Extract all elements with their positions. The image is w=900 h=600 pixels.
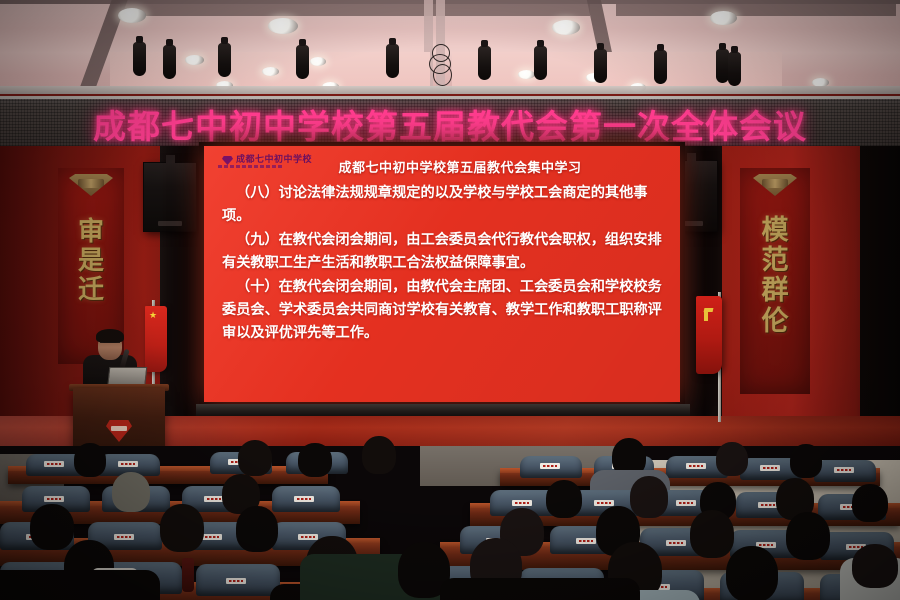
seat-number-plate [686, 463, 706, 469]
seat-number-plate [512, 500, 532, 506]
audience-area [0, 446, 900, 600]
seat-number-plate [594, 500, 614, 506]
stage-spotlight [594, 49, 607, 83]
panel-ornament-icon [753, 174, 797, 196]
ceiling-downlight [185, 55, 204, 65]
calligraphy-char: 迁 [58, 276, 124, 305]
podium-school-emblem-icon [106, 420, 132, 442]
audience-head [726, 546, 778, 600]
audience-head [790, 444, 822, 478]
seat-number-plate [202, 534, 222, 540]
wall-speaker-left [143, 162, 197, 232]
seat-number-plate [676, 500, 696, 506]
stage-spotlight [478, 46, 491, 80]
auditorium-photo: 成都七中初中学校第五届教代会第一次全体会议 审 是 迁 模 范 群 伦 [0, 0, 900, 600]
water-bottle [182, 558, 194, 592]
calligraphy-char: 范 [740, 246, 810, 276]
seat-number-plate [576, 538, 596, 544]
glasses-icon [100, 342, 120, 348]
seat-number-plate [666, 540, 686, 546]
calligraphy-char: 是 [58, 247, 124, 276]
foreground-shoulder [0, 570, 160, 600]
stage-spotlight [728, 52, 741, 86]
cpc-party-flag [696, 296, 722, 374]
audience-head [238, 440, 272, 476]
ceiling-downlight [268, 18, 298, 34]
slide-title: 成都七中初中学校第五届教代会集中学习 [204, 157, 680, 176]
stage-spotlight [654, 50, 667, 84]
audience-head [546, 480, 582, 518]
audience-head [298, 443, 332, 477]
ceiling-downlight [310, 57, 326, 66]
slide-header: 成都七中初中学校 成都七中初中学校第五届教代会集中学习 [204, 150, 680, 178]
panel-ornament-icon [69, 174, 113, 196]
seat-number-plate [294, 496, 314, 502]
calligraphy-char: 群 [740, 276, 810, 306]
audience-head [112, 472, 150, 512]
slide-paragraph: （八）讨论法律法规规章规定的以及学校与学校工会商定的其他事项。 [222, 182, 666, 228]
seat-number-plate [44, 461, 64, 467]
stage-spotlight [133, 42, 146, 76]
seat-number-plate [226, 578, 246, 584]
audience-head [74, 443, 106, 477]
audience-head [852, 544, 898, 588]
audience-head [30, 504, 74, 550]
seat-number-plate [204, 496, 224, 502]
audience-head [236, 506, 278, 552]
seat-number-plate [44, 496, 64, 502]
calligraphy-char: 模 [740, 216, 810, 246]
slide-paragraph: （九）在教代会闭会期间，由工会委员会代行教代会职权，组织安排有关教职工生产生活和… [222, 229, 666, 275]
audience-head [716, 442, 748, 476]
seat-number-plate [298, 534, 318, 540]
audience-head [690, 510, 734, 558]
seat-number-plate [114, 534, 134, 540]
foreground-shoulder [440, 578, 640, 600]
wall-shadow-right [860, 146, 900, 446]
calligraphy-panel-right: 模 范 群 伦 [740, 168, 810, 394]
projector-cable [433, 64, 452, 86]
calligraphy-left-text: 审 是 迁 [58, 218, 124, 305]
calligraphy-right-text: 模 范 群 伦 [740, 216, 810, 337]
stage-spotlight [386, 44, 399, 78]
ceiling [0, 0, 900, 96]
audience-head [786, 512, 830, 560]
ceiling-downlight [710, 11, 737, 25]
projection-screen: 成都七中初中学校 成都七中初中学校第五届教代会集中学习 （八）讨论法律法规规章规… [204, 146, 680, 402]
stage-spotlight [163, 45, 176, 79]
led-banner-text: 成都七中初中学校第五届教代会第一次全体会议 [0, 100, 900, 148]
slide-paragraph: （十）在教代会闭会期间，由教代会主席团、工会委员会和学校校务委员会、学术委员会共… [222, 276, 666, 345]
calligraphy-char: 审 [58, 218, 124, 247]
audience-head [362, 436, 396, 474]
seat-number-plate [834, 467, 854, 473]
stage-spotlight [534, 46, 547, 80]
china-national-flag [145, 306, 167, 372]
hammer-sickle-icon [702, 308, 715, 321]
ceiling-downlight [118, 8, 146, 23]
seat-number-plate [118, 461, 138, 467]
seat-number-plate [758, 502, 778, 508]
seat-number-plate [760, 465, 780, 471]
slide-body: （八）讨论法律法规规章规定的以及学校与学校工会商定的其他事项。 （九）在教代会闭… [222, 182, 666, 346]
stage-spotlight [218, 43, 231, 77]
ceiling-downlight [262, 67, 279, 76]
calligraphy-char: 伦 [740, 307, 810, 337]
ceiling-downlight [552, 20, 580, 35]
seat-number-plate [540, 463, 560, 469]
ceiling-downlight [518, 70, 535, 79]
presenter-hair [96, 329, 124, 343]
audience-head [630, 476, 668, 518]
audience-head [852, 484, 888, 522]
audience-head [160, 504, 204, 552]
stage-spotlight [296, 45, 309, 79]
